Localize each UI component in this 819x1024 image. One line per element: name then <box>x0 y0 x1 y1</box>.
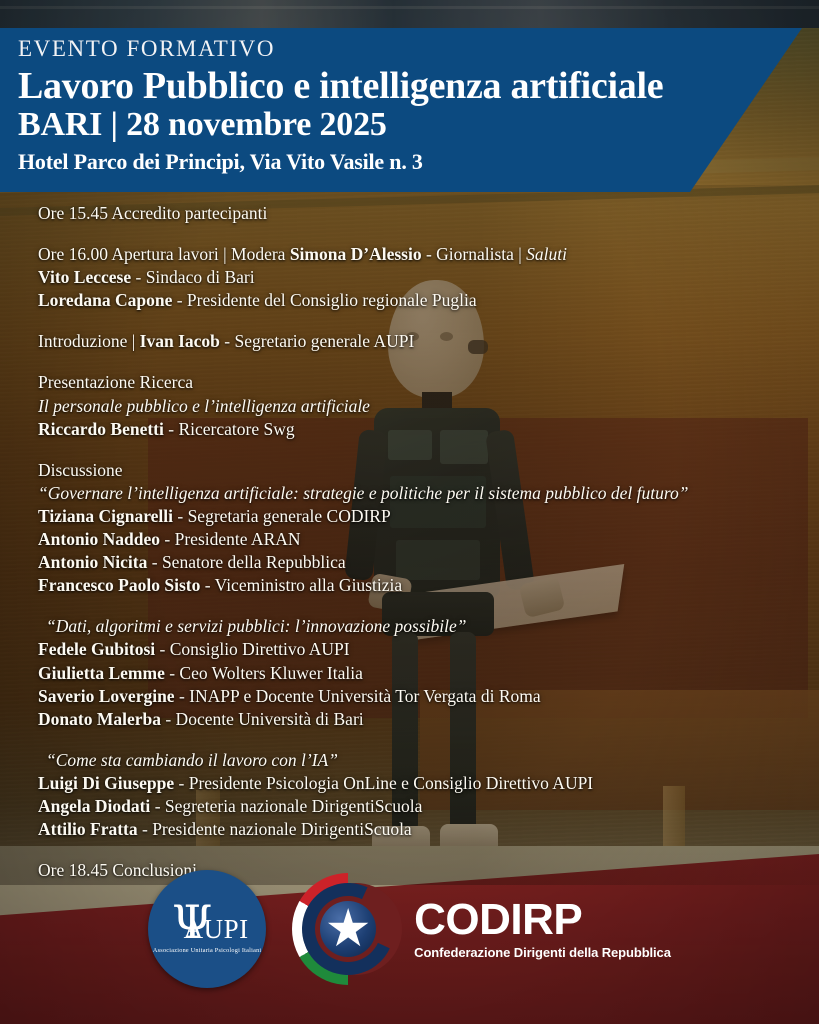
list-item: Loredana Capone - Presidente del Consigl… <box>38 289 738 312</box>
speaker-name: Ivan Iacob <box>140 331 220 351</box>
speaker-role: - Sindaco di Bari <box>131 267 254 287</box>
speaker-name: Luigi Di Giuseppe <box>38 773 174 793</box>
list-item: Riccardo Benetti - Ricercatore Swg <box>38 418 738 441</box>
speaker-role: - INAPP e Docente Università Tor Vergata… <box>175 686 541 706</box>
speaker-role: - Presidente ARAN <box>160 529 300 549</box>
speaker-role: - Docente Università di Bari <box>161 709 364 729</box>
star-icon <box>327 908 369 950</box>
ricerca-heading: Presentazione Ricerca <box>38 371 738 394</box>
codirp-wordmark: CODIRP Confederazione Dirigenti della Re… <box>414 898 671 960</box>
program-block-panel-dati: “Dati, algoritmi e servizi pubblici: l’i… <box>38 615 738 730</box>
discussione-heading: Discussione <box>38 459 738 482</box>
speaker-role: - Presidente del Consiglio regionale Pug… <box>172 290 476 310</box>
speaker-name: Fedele Gubitosi <box>38 639 155 659</box>
list-item: Donato Malerba - Docente Università di B… <box>38 708 738 731</box>
codirp-logo: CODIRP Confederazione Dirigenti della Re… <box>292 873 671 985</box>
speaker-name: Antonio Naddeo <box>38 529 160 549</box>
codirp-emblem-icon <box>292 873 404 985</box>
speaker-name: Loredana Capone <box>38 290 172 310</box>
ricerca-title: Il personale pubblico e l’intelligenza a… <box>38 395 738 418</box>
speaker-name: Tiziana Cignarelli <box>38 506 173 526</box>
list-item: Fedele Gubitosi - Consiglio Direttivo AU… <box>38 638 738 661</box>
speaker-role: - Presidente nazionale DirigentiScuola <box>138 819 412 839</box>
list-item: Saverio Lovergine - INAPP e Docente Univ… <box>38 685 738 708</box>
list-item: Angela Diodati - Segreteria nazionale Di… <box>38 795 738 818</box>
list-item: Antonio Nicita - Senatore della Repubbli… <box>38 551 738 574</box>
program-block-accredito: Ore 15.45 Accredito partecipanti <box>38 202 738 225</box>
event-city-date: BARI | 28 novembre 2025 <box>18 106 819 143</box>
speaker-name: Angela Diodati <box>38 796 150 816</box>
aupi-logo-name: AUPI <box>184 914 249 945</box>
program-list: Ore 15.45 Accredito partecipanti Ore 16.… <box>38 202 738 900</box>
speaker-role: - Segreteria nazionale DirigentiScuola <box>150 796 422 816</box>
program-apertura-line: Ore 16.00 Apertura lavori | Modera Simon… <box>38 243 738 266</box>
introduzione-label: Introduzione | <box>38 331 140 351</box>
list-item: Tiziana Cignarelli - Segretaria generale… <box>38 505 738 528</box>
speaker-role: - Segretario generale AUPI <box>220 331 414 351</box>
program-introduzione-line: Introduzione | Ivan Iacob - Segretario g… <box>38 330 738 353</box>
speaker-name: Donato Malerba <box>38 709 161 729</box>
program-block-ricerca: Presentazione Ricerca Il personale pubbl… <box>38 371 738 440</box>
codirp-disc <box>320 901 376 957</box>
list-item: Francesco Paolo Sisto - Viceministro all… <box>38 574 738 597</box>
header-banner: EVENTO FORMATIVO Lavoro Pubblico e intel… <box>0 28 819 192</box>
speaker-name: Attilio Fratta <box>38 819 138 839</box>
aupi-logo-tagline: Associazione Unitaria Psicologi Italiani <box>153 947 261 954</box>
list-item: Antonio Naddeo - Presidente ARAN <box>38 528 738 551</box>
apertura-moderator: Simona D’Alessio <box>290 244 422 264</box>
list-item: Vito Leccese - Sindaco di Bari <box>38 266 738 289</box>
program-block-apertura: Ore 16.00 Apertura lavori | Modera Simon… <box>38 243 738 312</box>
event-kicker: EVENTO FORMATIVO <box>18 36 819 61</box>
list-item: Luigi Di Giuseppe - Presidente Psicologi… <box>38 772 738 795</box>
speaker-name: Vito Leccese <box>38 267 131 287</box>
panel-title: “Governare l’intelligenza artificiale: s… <box>38 482 738 505</box>
apertura-mid: - Giornalista | <box>422 244 527 264</box>
program-block-panel-lavoro: “Come sta cambiando il lavoro con l’IA” … <box>38 749 738 841</box>
speaker-role: - Senatore della Repubblica <box>147 552 345 572</box>
speaker-role: - Segretaria generale CODIRP <box>173 506 391 526</box>
speaker-name: Giulietta Lemme <box>38 663 165 683</box>
speaker-role: - Viceministro alla Giustizia <box>200 575 402 595</box>
list-item: Attilio Fratta - Presidente nazionale Di… <box>38 818 738 841</box>
program-block-introduzione: Introduzione | Ivan Iacob - Segretario g… <box>38 330 738 353</box>
list-item: Giulietta Lemme - Ceo Wolters Kluwer Ita… <box>38 662 738 685</box>
event-poster: EVENTO FORMATIVO Lavoro Pubblico e intel… <box>0 0 819 1024</box>
codirp-logo-tagline: Confederazione Dirigenti della Repubblic… <box>414 945 671 960</box>
aupi-logo: Ψ AUPI Associazione Unitaria Psicologi I… <box>148 870 266 988</box>
event-venue: Hotel Parco dei Principi, Via Vito Vasil… <box>18 149 819 175</box>
apertura-saluti: Saluti <box>526 244 567 264</box>
page-title: Lavoro Pubblico e intelligenza artificia… <box>18 65 819 108</box>
apertura-prefix: Ore 16.00 Apertura lavori | Modera <box>38 244 290 264</box>
panel-title: “Come sta cambiando il lavoro con l’IA” <box>38 749 738 772</box>
speaker-role: - Consiglio Direttivo AUPI <box>155 639 349 659</box>
speaker-name: Antonio Nicita <box>38 552 147 572</box>
speaker-role: - Ricercatore Swg <box>164 419 295 439</box>
codirp-logo-name: CODIRP <box>414 898 671 942</box>
speaker-role: - Presidente Psicologia OnLine e Consigl… <box>174 773 593 793</box>
speaker-name: Francesco Paolo Sisto <box>38 575 200 595</box>
speaker-role: - Ceo Wolters Kluwer Italia <box>165 663 363 683</box>
logo-row: Ψ AUPI Associazione Unitaria Psicologi I… <box>0 870 819 988</box>
panel-title: “Dati, algoritmi e servizi pubblici: l’i… <box>38 615 738 638</box>
speaker-name: Riccardo Benetti <box>38 419 164 439</box>
program-accredito-line: Ore 15.45 Accredito partecipanti <box>38 202 738 225</box>
program-block-discussione: Discussione “Governare l’intelligenza ar… <box>38 459 738 598</box>
speaker-name: Saverio Lovergine <box>38 686 175 706</box>
